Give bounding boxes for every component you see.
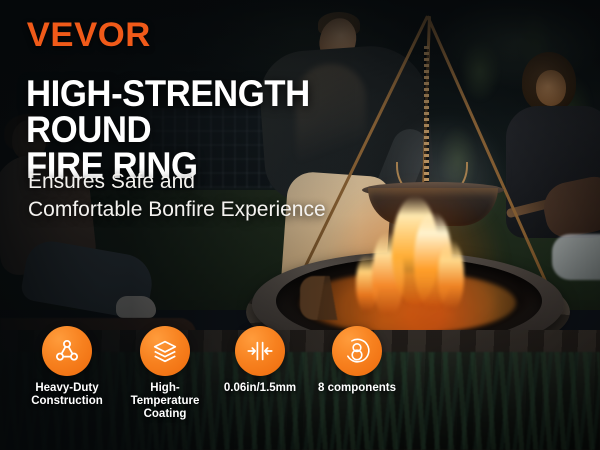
feature-thickness: 0.06in/1.5mm — [214, 326, 306, 395]
feature-badge-circle — [140, 326, 190, 376]
product-banner: VEVOR HIGH-STRENGTH ROUND FIRE RING Ensu… — [0, 0, 600, 450]
feature-high-temperature-coating: High-Temperature Coating — [116, 326, 214, 421]
triangle-nodes-icon — [52, 336, 82, 366]
feature-badge-circle — [235, 326, 285, 376]
feature-badge-list: Heavy-Duty Construction High-Temperature… — [18, 326, 418, 426]
subheadline-line-2: Comfortable Bonfire Experience — [28, 196, 368, 224]
feature-label: 0.06in/1.5mm — [224, 382, 296, 395]
subheadline-line-1: Ensures Safe and — [28, 170, 195, 193]
feature-badge-circle — [42, 326, 92, 376]
headline-line-1: HIGH-STRENGTH ROUND — [26, 73, 310, 150]
layers-stack-icon — [150, 336, 180, 366]
banner-content: VEVOR HIGH-STRENGTH ROUND FIRE RING Ensu… — [0, 0, 600, 450]
number-eight-circle-icon — [342, 336, 372, 366]
feature-heavy-duty-construction: Heavy-Duty Construction — [18, 326, 116, 408]
feature-badge-circle — [332, 326, 382, 376]
subheadline: Ensures Safe and Comfortable Bonfire Exp… — [28, 168, 368, 224]
feature-label: Heavy-Duty Construction — [31, 382, 103, 408]
thickness-caliper-icon — [245, 336, 275, 366]
vevor-logo: VEVOR — [27, 18, 151, 52]
feature-label: High-Temperature Coating — [116, 382, 214, 421]
feature-label: 8 components — [318, 382, 396, 395]
feature-components-count: 8 components — [306, 326, 408, 395]
